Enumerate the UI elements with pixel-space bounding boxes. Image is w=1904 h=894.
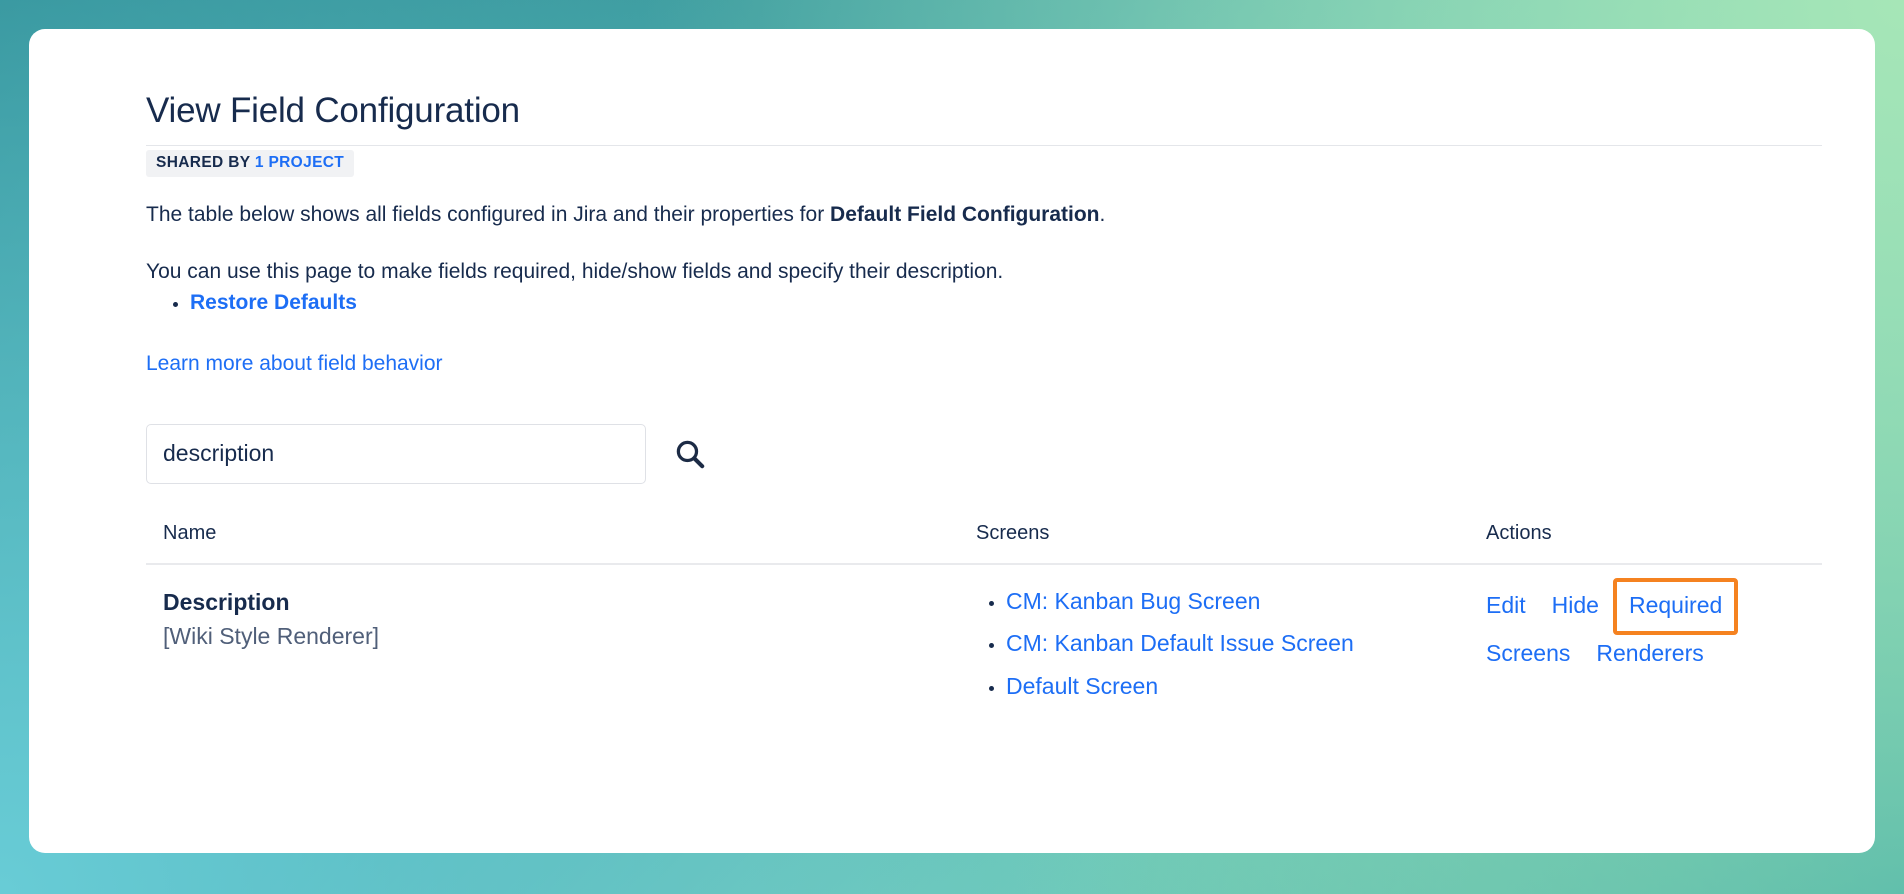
content-card: View Field Configuration SHARED BY 1 PRO… <box>29 29 1875 853</box>
list-item: CM: Kanban Default Issue Screen <box>1006 630 1486 658</box>
table-row: Description [Wiki Style Renderer] CM: Ka… <box>146 564 1822 716</box>
restore-defaults-link[interactable]: Restore Defaults <box>190 291 357 314</box>
field-renderer: [Wiki Style Renderer] <box>163 620 976 652</box>
column-header-screens: Screens <box>976 522 1486 564</box>
field-configuration-table: Name Screens Actions Description [Wiki S… <box>146 522 1822 716</box>
table-body: Description [Wiki Style Renderer] CM: Ka… <box>146 564 1822 716</box>
screen-link-default-screen[interactable]: Default Screen <box>1006 673 1158 699</box>
list-item: Restore Defaults <box>190 291 1875 315</box>
intro-paragraph-1: The table below shows all fields configu… <box>146 201 1875 229</box>
table-header-row: Name Screens Actions <box>146 522 1822 564</box>
intro-action-list: Restore Defaults <box>146 291 1875 315</box>
page-title: View Field Configuration <box>146 91 1822 146</box>
actions-group-second-row: Screens Renderers <box>1486 637 1816 670</box>
field-configuration-name: Default Field Configuration <box>830 203 1099 226</box>
shared-project-link[interactable]: 1 PROJECT <box>255 154 344 171</box>
screen-link-kanban-default-issue[interactable]: CM: Kanban Default Issue Screen <box>1006 630 1354 656</box>
search-row <box>146 424 1875 484</box>
action-screens[interactable]: Screens <box>1486 637 1570 670</box>
cell-name: Description [Wiki Style Renderer] <box>146 564 976 716</box>
column-header-name: Name <box>146 522 976 564</box>
screens-list: CM: Kanban Bug Screen CM: Kanban Default… <box>976 588 1486 701</box>
search-button[interactable] <box>668 432 712 476</box>
screen-link-kanban-bug[interactable]: CM: Kanban Bug Screen <box>1006 588 1260 614</box>
action-edit[interactable]: Edit <box>1486 589 1526 622</box>
column-header-actions: Actions <box>1486 522 1822 564</box>
intro-paragraph-2: You can use this page to make fields req… <box>146 258 1875 286</box>
list-item: Default Screen <box>1006 673 1486 701</box>
action-renderers[interactable]: Renderers <box>1596 637 1703 670</box>
intro-text-after: . <box>1100 203 1106 226</box>
action-required[interactable]: Required <box>1613 578 1738 635</box>
cell-actions: Edit Hide Required Screens Renderers <box>1486 564 1822 716</box>
learn-more-link[interactable]: Learn more about field behavior <box>146 351 443 376</box>
shared-by-badge: SHARED BY 1 PROJECT <box>146 150 354 177</box>
field-name: Description <box>163 588 976 618</box>
search-input[interactable] <box>146 424 646 484</box>
action-hide[interactable]: Hide <box>1552 589 1599 622</box>
intro-text-before: The table below shows all fields configu… <box>146 203 830 226</box>
shared-by-label: SHARED BY <box>156 154 255 171</box>
cell-screens: CM: Kanban Bug Screen CM: Kanban Default… <box>976 564 1486 716</box>
table-header: Name Screens Actions <box>146 522 1822 564</box>
actions-group: Edit Hide Required Screens Renderers <box>1486 585 1816 671</box>
list-item: CM: Kanban Bug Screen <box>1006 588 1486 616</box>
search-icon <box>673 437 707 471</box>
